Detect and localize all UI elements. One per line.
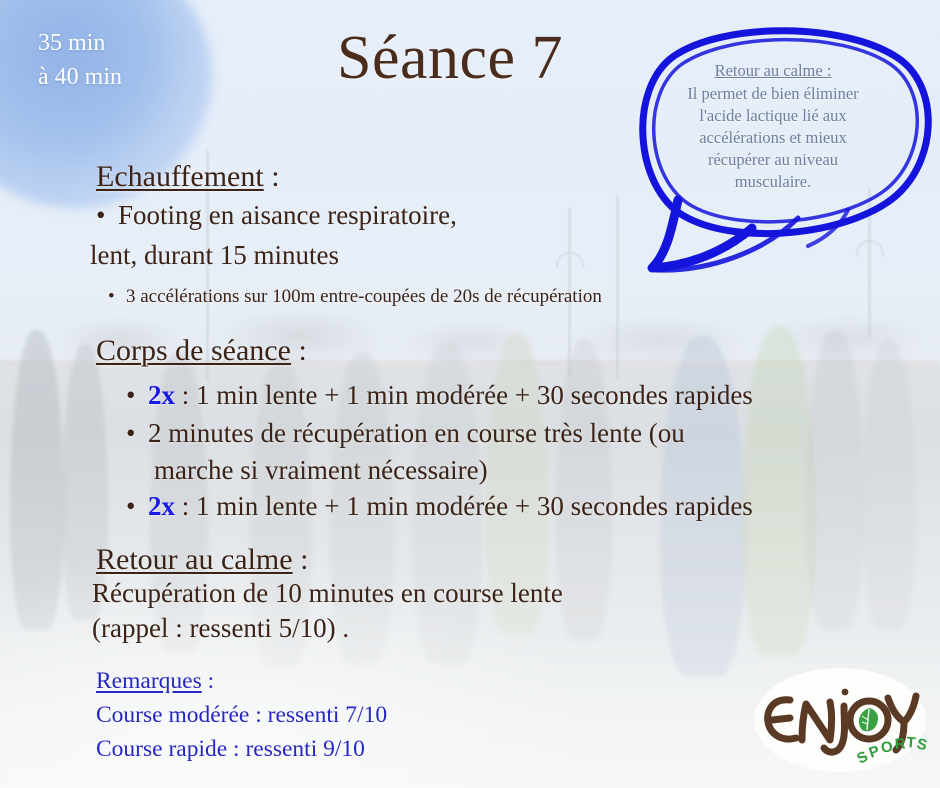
- main-heading-colon: :: [291, 334, 307, 367]
- main-bullet-2-text-line-1: 2 minutes de récupération en course très…: [148, 418, 685, 448]
- logo-tagline-t: T: [906, 734, 917, 752]
- bullet-icon: •: [126, 418, 148, 449]
- main-bullet-2-line-2: marche si vraiment nécessaire): [154, 455, 488, 486]
- bullet-icon: •: [108, 286, 126, 308]
- enjoy-sports-logo: S P O R T S ENJOY SPORTS: [752, 664, 928, 776]
- warmup-bullet-1-line-2: lent, durant 15 minutes: [90, 240, 339, 271]
- bullet-icon: •: [126, 380, 148, 411]
- warmup-heading-label: Echauffement: [96, 160, 264, 193]
- enjoy-sports-logo-icon: S P O R T S ENJOY SPORTS: [752, 664, 928, 776]
- section-heading-warmup: Echauffement :: [96, 160, 280, 193]
- section-heading-cooldown: Retour au calme :: [96, 543, 308, 576]
- section-heading-main: Corps de séance :: [96, 334, 307, 367]
- main-bullet-2-line-1: •2 minutes de récupération en course trè…: [126, 418, 685, 449]
- remarks-heading-label: Remarques: [96, 668, 202, 694]
- cooldown-heading-colon: :: [293, 543, 309, 576]
- bullet-icon: •: [96, 200, 118, 231]
- main-bullet-1-repeat: 2x: [148, 380, 175, 410]
- remarks-heading-colon: :: [202, 668, 214, 694]
- cooldown-heading-label: Retour au calme: [96, 543, 293, 576]
- remarks-heading: Remarques :: [96, 666, 214, 696]
- main-bullet-1: •2x : 1 min lente + 1 min modérée + 30 s…: [126, 380, 753, 411]
- warmup-bullet-1-text-line-1: Footing en aisance respiratoire,: [118, 200, 457, 230]
- warmup-bullet-1-line-1: •Footing en aisance respiratoire,: [96, 200, 457, 231]
- logo-tagline-r: R: [894, 735, 906, 753]
- warmup-heading-colon: :: [264, 160, 280, 193]
- bullet-icon: •: [126, 491, 148, 522]
- warmup-bullet-2: •3 accélérations sur 100m entre-coupées …: [108, 286, 602, 308]
- cooldown-line-1: Récupération de 10 minutes en course len…: [92, 578, 563, 609]
- main-bullet-1-text: : 1 min lente + 1 min modérée + 30 secon…: [175, 380, 753, 410]
- main-bullet-3-text: : 1 min lente + 1 min modérée + 30 secon…: [175, 491, 753, 521]
- warmup-bullet-2-text: 3 accélérations sur 100m entre-coupées d…: [126, 286, 602, 307]
- cooldown-line-2: (rappel : ressenti 5/10) .: [92, 613, 349, 644]
- remarks-line-1: Course modérée : ressenti 7/10: [96, 700, 387, 730]
- main-heading-label: Corps de séance: [96, 334, 291, 367]
- main-bullet-3-repeat: 2x: [148, 491, 175, 521]
- poster-canvas: 35 min à 40 min Séance 7 Retour au calme…: [0, 0, 940, 788]
- remarks-line-2: Course rapide : ressenti 9/10: [96, 734, 365, 764]
- main-bullet-3: •2x : 1 min lente + 1 min modérée + 30 s…: [126, 491, 753, 522]
